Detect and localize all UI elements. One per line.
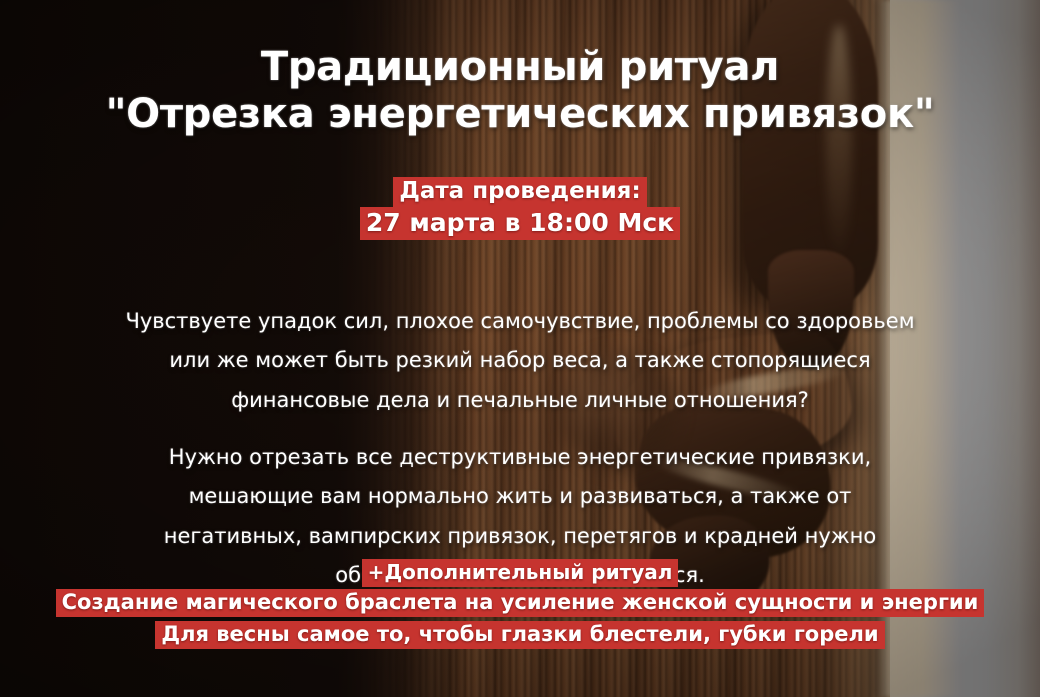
bonus-ritual-block: +Дополнительный ритуал Создание магическ… [0,557,1040,651]
bonus-title: +Дополнительный ритуал [362,559,679,587]
bonus-note: Для весны самое то, чтобы глазки блестел… [155,621,884,649]
title-line-2: "Отрезка энергетических привязок" [0,91,1040,138]
bonus-description: Создание магического браслета на усилени… [56,589,985,617]
title-line-1: Традиционный ритуал [0,44,1040,91]
bonus-line-3: Для весны самое то, чтобы глазки блестел… [0,619,1040,651]
poster: Традиционный ритуал "Отрезка энергетичес… [0,0,1040,697]
date-label-line: Дата проведения: [0,176,1040,206]
date-label: Дата проведения: [393,177,646,207]
date-value: 27 марта в 18:00 Мск [360,207,680,240]
body-paragraph-1: Чувствуете упадок сил, плохое самочувств… [0,302,1040,420]
date-value-line: 27 марта в 18:00 Мск [0,206,1040,239]
bonus-line-1: +Дополнительный ритуал [0,557,1040,587]
event-date-block: Дата проведения: 27 марта в 18:00 Мск [0,176,1040,239]
poster-content: Традиционный ритуал "Отрезка энергетичес… [0,0,1040,697]
page-title: Традиционный ритуал "Отрезка энергетичес… [0,44,1040,138]
bonus-line-2: Создание магического браслета на усилени… [0,587,1040,619]
